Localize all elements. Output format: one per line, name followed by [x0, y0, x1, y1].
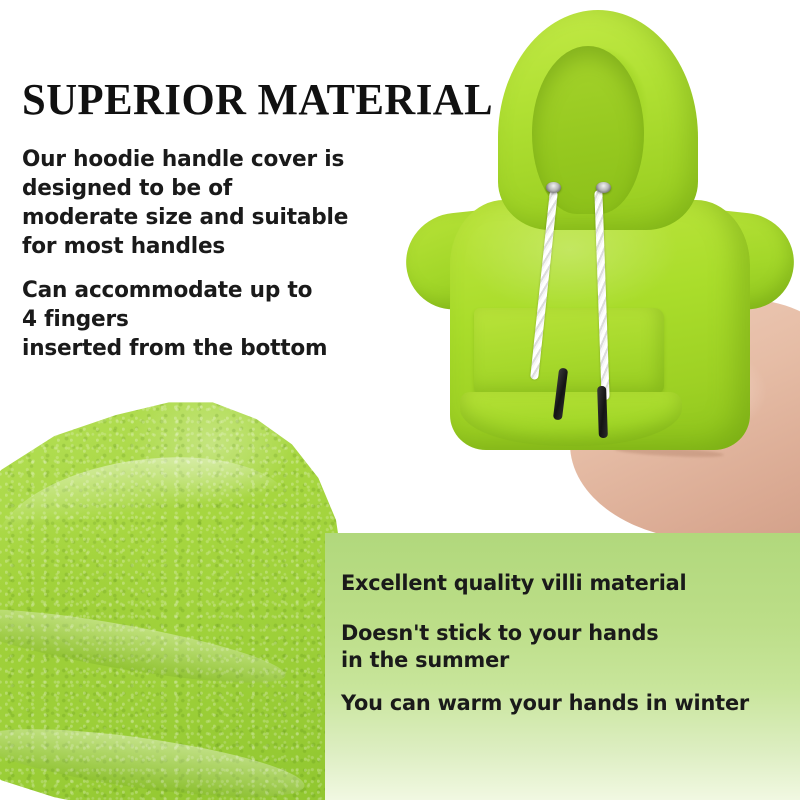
product-infographic: SUPERIOR MATERIAL Our hoodie handle cove…	[0, 0, 800, 800]
feature-text-block-2: Can accommodate up to 4 fingers inserted…	[22, 276, 327, 363]
fabric-closeup-photo	[0, 380, 360, 800]
drawstring-aglet-right	[597, 386, 608, 438]
benefit-item-2: Doesn't stick to your hands in the summe…	[341, 620, 658, 674]
feature-text-block-1: Our hoodie handle cover is designed to b…	[22, 145, 348, 261]
benefit-line: in the summer	[341, 647, 658, 674]
benefit-line: You can warm your hands in winter	[341, 690, 749, 717]
grommet-right-icon	[596, 182, 611, 193]
benefits-panel: Excellent quality villi material Doesn't…	[325, 533, 800, 800]
hoodie-kangaroo-pocket	[474, 308, 664, 394]
page-title: SUPERIOR MATERIAL	[22, 78, 493, 122]
feature-text-line: for most handles	[22, 232, 348, 261]
feature-text-line: 4 fingers	[22, 305, 327, 334]
feature-text-line: moderate size and suitable	[22, 203, 348, 232]
grommet-left-icon	[546, 182, 561, 193]
benefit-line: Excellent quality villi material	[341, 570, 687, 597]
benefit-item-3: You can warm your hands in winter	[341, 690, 749, 717]
feature-text-line: designed to be of	[22, 174, 348, 203]
feature-text-line: Can accommodate up to	[22, 276, 327, 305]
feature-text-line: inserted from the bottom	[22, 334, 327, 363]
benefit-item-1: Excellent quality villi material	[341, 570, 687, 597]
feature-text-line: Our hoodie handle cover is	[22, 145, 348, 174]
benefit-line: Doesn't stick to your hands	[341, 620, 658, 647]
